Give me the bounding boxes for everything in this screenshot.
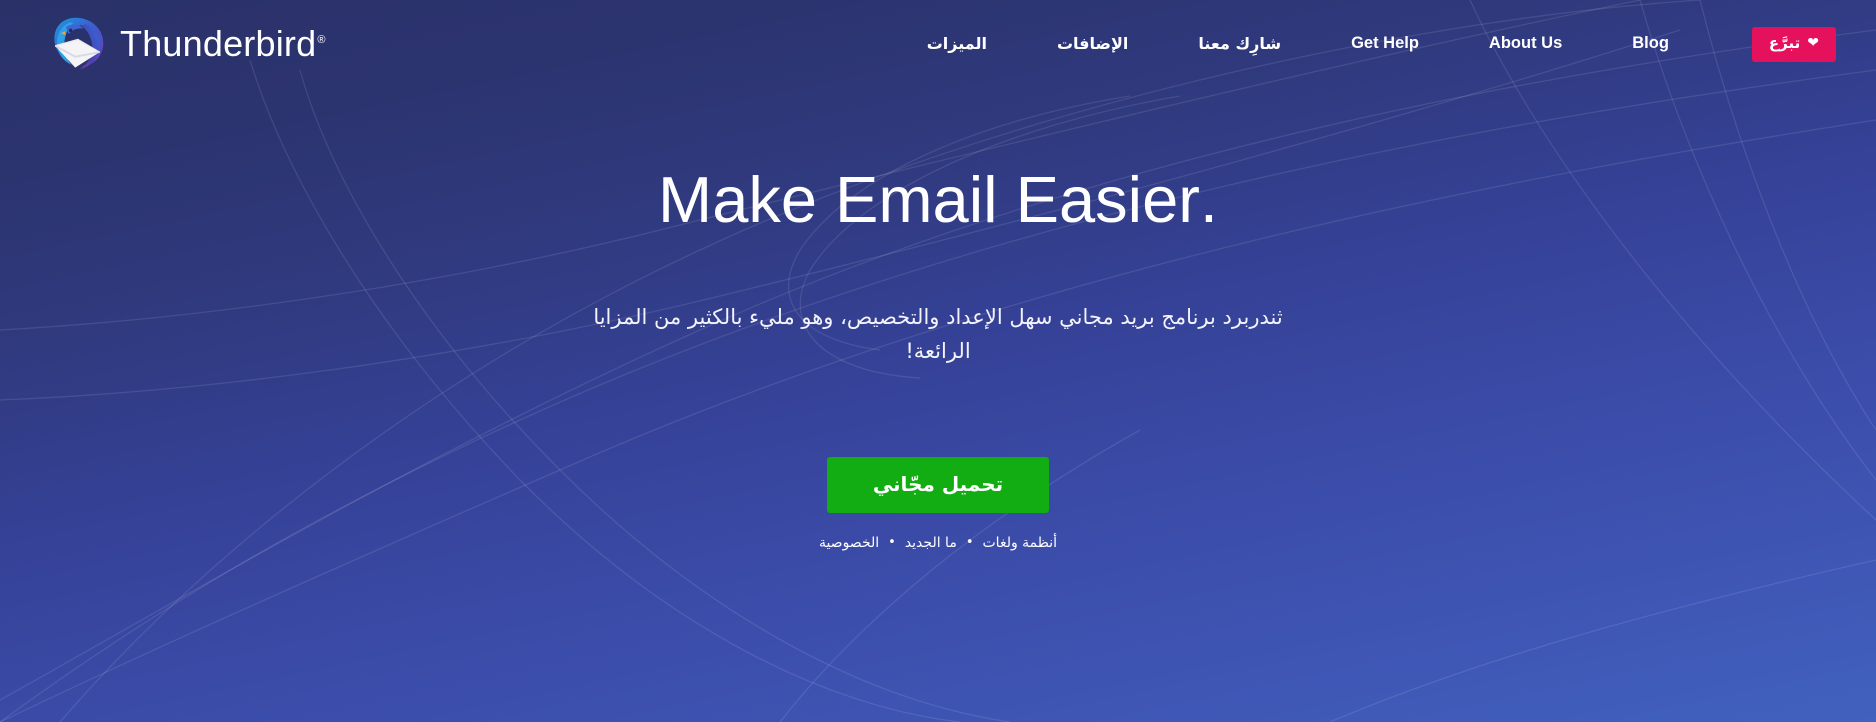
- nav-item-get-help[interactable]: Get Help: [1349, 27, 1421, 60]
- nav-item-addons[interactable]: الإضافات: [1055, 28, 1130, 61]
- nav-item-contribute[interactable]: شارِك معنا: [1196, 28, 1283, 61]
- registered-mark: ®: [317, 34, 325, 46]
- nav-item-about-us[interactable]: About Us: [1487, 27, 1564, 60]
- hero-page: ❤ تبرَّع Blog About Us Get Help شارِك مع…: [0, 0, 1876, 722]
- link-systems-and-languages[interactable]: أنظمة ولغات: [983, 535, 1058, 551]
- free-download-button[interactable]: تحميل مجّاني: [827, 457, 1049, 513]
- link-separator-1: •: [966, 536, 974, 549]
- donate-button-label: تبرَّع: [1769, 36, 1800, 51]
- link-privacy[interactable]: الخصوصية: [819, 535, 879, 551]
- hero-title: .Make Email Easier: [658, 164, 1218, 236]
- hero-section: .Make Email Easier ثندربرد برنامج بريد م…: [0, 88, 1876, 722]
- thunderbird-brand[interactable]: Thunderbird®: [48, 15, 326, 73]
- brand-name: Thunderbird®: [120, 26, 326, 62]
- link-whats-new[interactable]: ما الجديد: [905, 535, 957, 551]
- heart-icon: ❤: [1807, 36, 1819, 50]
- donate-button[interactable]: ❤ تبرَّع: [1752, 27, 1836, 62]
- hero-subtitle: ثندربرد برنامج بريد مجاني سهل الإعداد وا…: [568, 300, 1308, 369]
- nav-item-blog[interactable]: Blog: [1630, 27, 1671, 60]
- nav-item-features[interactable]: الميزات: [925, 28, 989, 61]
- thunderbird-logo-icon: [48, 15, 106, 73]
- hero-sub-links: أنظمة ولغات • ما الجديد • الخصوصية: [819, 535, 1057, 551]
- main-navigation: ❤ تبرَّع Blog About Us Get Help شارِك مع…: [0, 0, 1876, 88]
- nav-links-group: ❤ تبرَّع Blog About Us Get Help شارِك مع…: [326, 27, 1848, 62]
- link-separator-2: •: [888, 536, 896, 549]
